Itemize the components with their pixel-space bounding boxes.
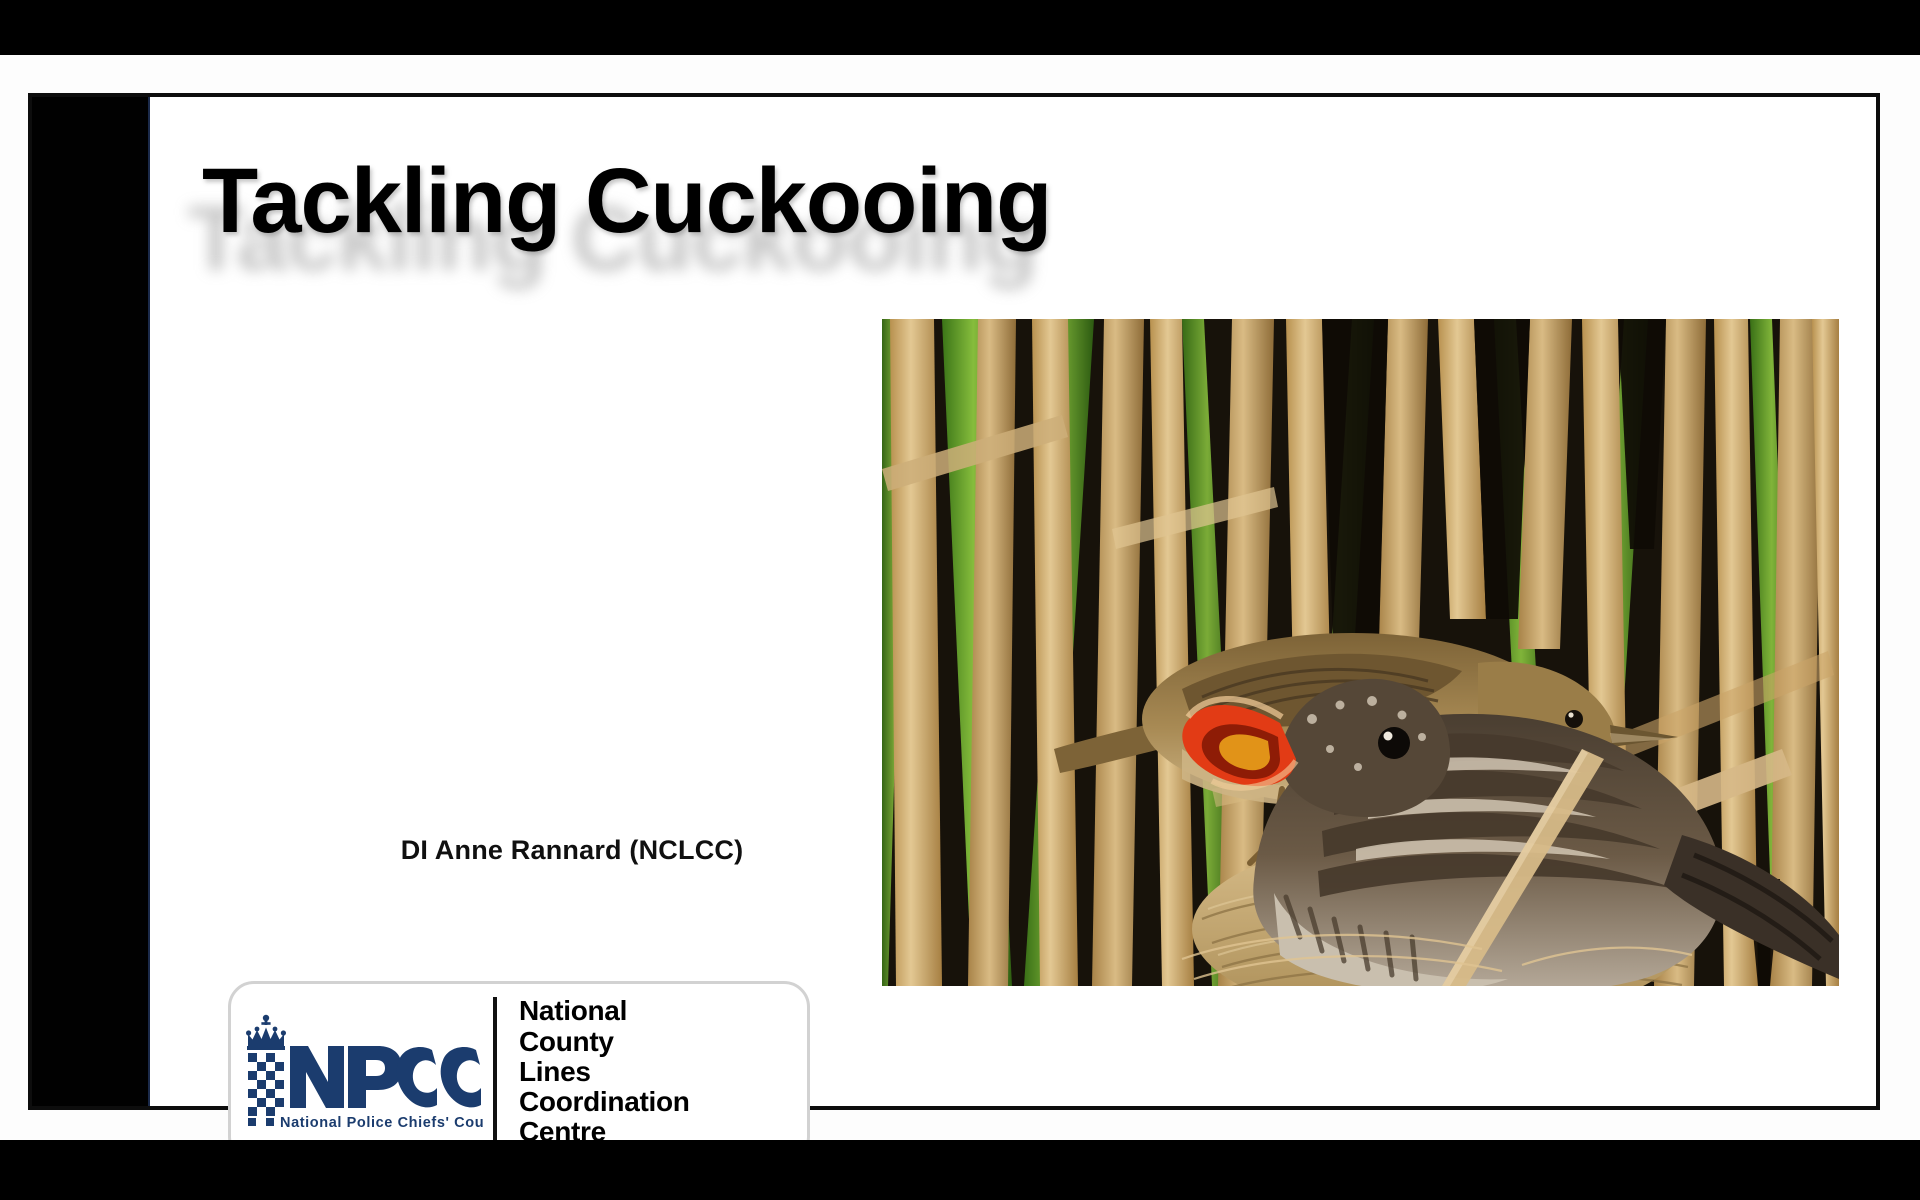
nclcc-line-1: National <box>519 996 807 1026</box>
npcc-logo: National Police Chiefs' Council <box>231 984 489 1160</box>
cuckoo-photo-illustration <box>882 319 1839 986</box>
nclcc-line-4: Coordination <box>519 1087 807 1117</box>
nclcc-wordmark: National County Lines Coordination Centr… <box>497 996 807 1147</box>
nclcc-line-2: County <box>519 1027 807 1057</box>
slide-accent-bar <box>32 97 150 1106</box>
npcc-nclcc-logo: National Police Chiefs' Council National… <box>228 981 810 1163</box>
slide: Tackling Cuckooing Tackling Cuckooing DI… <box>28 93 1880 1110</box>
page-title: Tackling Cuckooing <box>202 145 1252 257</box>
presenter-name: DI Anne Rannard (NCLCC) <box>202 835 942 866</box>
slide-title-block: Tackling Cuckooing Tackling Cuckooing <box>202 145 1252 290</box>
presentation-viewport: Tackling Cuckooing Tackling Cuckooing DI… <box>0 0 1920 1200</box>
letterbox-bottom <box>0 1140 1920 1200</box>
slide-stage: Tackling Cuckooing Tackling Cuckooing DI… <box>0 55 1920 1140</box>
npcc-logo-icon: National Police Chiefs' Council <box>236 1008 484 1136</box>
npcc-strapline: National Police Chiefs' Council <box>280 1115 484 1131</box>
cuckoo-photo <box>882 319 1839 986</box>
nclcc-line-3: Lines <box>519 1057 807 1087</box>
letterbox-top <box>0 0 1920 55</box>
